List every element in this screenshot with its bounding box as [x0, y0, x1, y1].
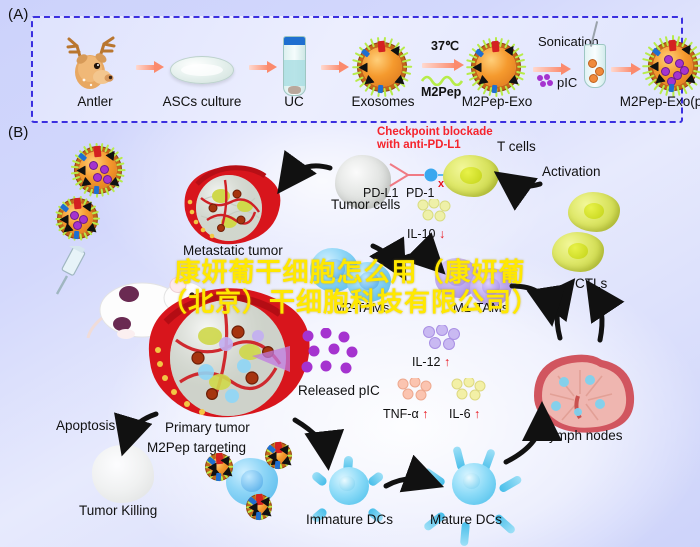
exosome-spike: [72, 160, 81, 165]
m2-tams-label: M2-TAMs: [334, 300, 389, 315]
exosome-membrane-protein: [491, 85, 497, 93]
exosome-spike: [658, 38, 664, 48]
checkpoint-note-line1: Checkpoint blockade: [377, 126, 493, 139]
released-pic-label: Released pIC: [298, 383, 380, 398]
primary-tumor-icon: [140, 278, 316, 434]
exosome-membrane-protein: [93, 146, 101, 158]
panel-a-caption-exosomes: Exosomes: [343, 94, 423, 109]
exosome-membrane-protein: [93, 186, 99, 194]
exosome-spike: [693, 58, 700, 63]
loaded-exosome-icon: [641, 34, 700, 98]
exosome-spike: [402, 71, 411, 75]
exosome-spike: [93, 217, 100, 219]
panel-b-label: (B): [8, 124, 29, 141]
panel-a-caption-uc: UC: [269, 94, 319, 109]
t-cells-label: T cells: [497, 139, 536, 154]
cytokine-il-10: IL-10 ↓: [407, 227, 445, 241]
cytokine-il-12-trend: ↑: [444, 355, 450, 369]
ctl-icon-1: [568, 192, 620, 232]
centrifuge-tube-icon: [283, 36, 306, 96]
released-pic-icon: [300, 328, 370, 382]
exosome-membrane-protein: [377, 85, 383, 93]
exosome-spike: [104, 187, 110, 196]
ctl-icon-2: [552, 232, 604, 272]
exosome-spike: [116, 173, 125, 177]
exosome-membrane-protein: [358, 63, 367, 73]
peptide-exosome-icon: [465, 36, 527, 98]
exosome-spike: [116, 163, 125, 167]
pd-l1-label: PD-L1: [363, 186, 398, 200]
exosome-spike: [514, 53, 523, 59]
process-arrow-5: [533, 64, 571, 74]
exosome-membrane-protein: [649, 62, 658, 72]
petri-dish-icon: [170, 56, 234, 84]
exosome-spike: [402, 59, 411, 63]
apoptosis-label: Apoptosis: [56, 418, 115, 433]
nanoparticle-icon-2: [55, 196, 101, 242]
immature-dc-icon: [313, 452, 385, 520]
exosome-membrane-protein: [491, 41, 499, 53]
exosome-membrane-protein: [275, 461, 281, 469]
panel-a-caption-final: M2Pep-Exo(pIC): [606, 94, 700, 109]
panel-a-caption-m2pepexo: M2Pep-Exo: [439, 94, 555, 109]
exosome-membrane-protein: [267, 451, 276, 461]
panel-a-container: Antler ASCs culture UC Exosomes 37℃: [31, 16, 683, 123]
m2-tam-icon-2: [347, 262, 391, 302]
process-arrow-3: [321, 62, 349, 72]
lymph-node-icon: [528, 350, 640, 434]
tumor-killing-label: Tumor Killing: [79, 503, 157, 518]
nanoparticle-icon-1: [70, 142, 128, 200]
exosome-membrane-protein: [76, 166, 85, 176]
panel-a-caption-antler: Antler: [54, 94, 136, 109]
exosome-membrane-protein: [472, 63, 481, 73]
il-12-molecule-icon: [422, 325, 462, 351]
cytokine-tnf-alpha-name: TNF-α: [383, 407, 419, 421]
exosome-spike: [83, 232, 88, 239]
process-arrow-6: [611, 64, 641, 74]
exosome-spike: [499, 37, 503, 46]
checkpoint-note-line2: with anti-PD-L1: [377, 139, 461, 152]
exosome-membrane-protein: [73, 198, 81, 210]
lymph-nodes-label: Lymph nodes: [542, 428, 623, 443]
t-cell-icon-1: [443, 155, 499, 197]
m2pep-squiggle-icon: [421, 72, 463, 86]
process-arrow-1: [136, 62, 164, 72]
exosome-spike: [681, 84, 687, 94]
nanoparticle-icon-5: [247, 495, 273, 521]
immature-dcs-label: Immature DCs: [306, 512, 393, 527]
cytokine-il-6: IL-6 ↑: [449, 407, 480, 421]
exosome-membrane-protein: [59, 214, 68, 224]
pd-1-label: PD-1: [406, 186, 434, 200]
exosome-membrane-protein: [668, 84, 674, 92]
panel-a-caption-asc: ASCs culture: [157, 94, 247, 109]
figure-canvas: (A) Antler ASCs culture: [0, 0, 700, 547]
process-arrow-4: [422, 60, 464, 70]
cytokine-il-6-trend: ↑: [474, 407, 480, 421]
exosome-spike: [117, 169, 125, 171]
exosome-spike: [693, 70, 700, 75]
exosome-spike: [517, 66, 526, 68]
metastatic-tumor-label: Metastatic tumor: [183, 243, 283, 258]
pic-label: pIC: [557, 75, 577, 90]
process-arrow-2: [249, 62, 277, 72]
exosome-spike: [403, 66, 412, 68]
exosome-spike: [67, 198, 72, 205]
exosome-membrane-protein: [215, 473, 221, 481]
deer-icon: [57, 30, 133, 92]
exosome-membrane-protein: [377, 41, 385, 53]
cytokine-il-6-name: IL-6: [449, 407, 471, 421]
apoptotic-cell-icon: [92, 445, 154, 503]
primary-tumor-label: Primary tumor: [165, 420, 250, 435]
exosome-spike: [676, 36, 681, 46]
mature-dcs-label: Mature DCs: [430, 512, 502, 527]
tnf-alpha-molecule-icon: [397, 378, 433, 402]
exosome-spike: [691, 51, 700, 57]
exosome-icon: [355, 40, 409, 94]
exosome-membrane-protein: [255, 512, 261, 520]
exosome-spike: [694, 65, 700, 67]
exosome-spike: [370, 39, 375, 48]
exosome-spike: [482, 39, 488, 48]
cytokine-il-12-name: IL-12: [412, 355, 441, 369]
exosome-membrane-protein: [73, 231, 79, 239]
cytokine-il-10-trend: ↓: [439, 227, 445, 241]
activation-label: Activation: [542, 164, 601, 179]
il-6-molecule-icon: [451, 378, 487, 402]
metastatic-tumor-icon: [177, 158, 285, 254]
exosome-membrane-protein: [207, 463, 216, 473]
panel-a-label: (A): [8, 6, 29, 23]
nanoparticle-icon-4: [265, 442, 293, 470]
nanoparticle-icon-3: [205, 453, 235, 483]
exosome-spike: [516, 59, 525, 63]
il-10-molecule-icon: [417, 199, 453, 223]
exosome-spike: [400, 52, 409, 58]
m1-tams-label: M1-TAMs: [453, 300, 508, 315]
mature-dc-icon: [434, 446, 514, 522]
cytokine-tnf-alpha: TNF-α ↑: [383, 407, 428, 421]
temperature-label: 37℃: [431, 38, 459, 53]
cytokine-tnf-alpha-trend: ↑: [422, 407, 428, 421]
sonicator-tube-icon: [584, 44, 606, 88]
pic-dots-icon: [536, 74, 554, 88]
cytokine-il-10-name: IL-10: [407, 227, 436, 241]
exosome-membrane-protein: [668, 40, 676, 52]
exosome-membrane-protein: [248, 503, 257, 513]
cytokine-il-12: IL-12 ↑: [412, 355, 450, 369]
exosome-spike: [92, 211, 99, 215]
exosome-spike: [516, 71, 525, 75]
ctls-label: CTLs: [575, 276, 607, 291]
